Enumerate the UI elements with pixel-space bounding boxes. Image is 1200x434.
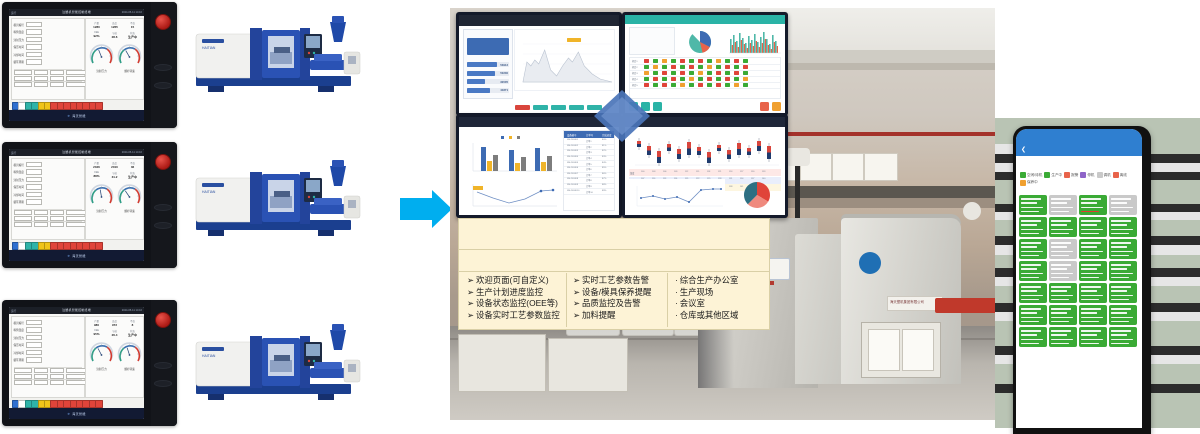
hmi-form-row[interactable]: 保压时间 <box>14 343 42 347</box>
list-marker: · <box>675 310 678 320</box>
hmi-stat-cell: OEE 92% <box>88 31 105 38</box>
hmi-title-left: 运行 <box>11 309 16 313</box>
device-card-21[interactable] <box>1019 305 1047 325</box>
hmi-panel-1[interactable]: 运行 注塑机智能控制终端 2024-05-11 14:16 模具编号 料筒温度 … <box>2 2 177 128</box>
hmi-title-bar: 运行 注塑机智能控制终端 2024-05-11 14:16 <box>9 9 144 16</box>
factory-machine-main: 海天塑机集团有限公司 <box>795 204 995 384</box>
monitor1-big-number-box <box>467 38 509 55</box>
hmi-stat-grid: 产量 980 良品 972 不良 8 OEE 95% 节拍 26.4 状态 生产… <box>86 317 143 339</box>
hmi-vent <box>154 204 172 211</box>
legend-item-1: 生产中 <box>1044 172 1062 178</box>
device-card-12[interactable] <box>1109 239 1137 259</box>
hmi-stat-cell: 节拍 26.4 <box>106 329 123 337</box>
injection-molding-machine-3: HAITIAN <box>188 316 363 406</box>
hmi-gauge-1: 注射压力 <box>89 43 114 68</box>
crate <box>458 334 546 392</box>
smartphone: ❮ 空闲/待机 生产中 报警 停机 调机 离线 保养中 <box>1013 126 1151 434</box>
hmi-vent <box>154 222 172 229</box>
hmi-form-row[interactable]: 注射压力 <box>14 336 42 340</box>
phone-screen: ❮ 空闲/待机 生产中 报警 停机 调机 离线 保养中 <box>1016 129 1142 428</box>
info-list-item: ·生产现场 <box>675 287 738 299</box>
monitor1-button-row[interactable] <box>515 105 602 111</box>
monitor4-pie-chart <box>735 178 779 210</box>
device-card-04[interactable] <box>1109 195 1137 215</box>
hmi-form-label: 冷却时间 <box>14 53 24 57</box>
hmi-vent <box>154 362 172 369</box>
device-card-19[interactable] <box>1079 283 1107 303</box>
hmi-stat-value: 36 <box>124 165 141 169</box>
hmi-title-bar: 运行 注塑机智能控制终端 2024-05-11 14:16 <box>9 149 144 156</box>
hmi-gauge-2: 螺杆转速 <box>117 183 142 208</box>
hmi-gauge-label: 注射压力 <box>89 367 114 371</box>
hmi-footer-brand: 海天智能 <box>72 254 86 258</box>
emergency-stop-button[interactable] <box>155 312 171 328</box>
hmi-table-row <box>14 223 88 227</box>
hmi-footer: ⚛ 海天智能 <box>9 250 144 261</box>
hmi-form-row[interactable]: 注射压力 <box>14 178 42 182</box>
device-card-14[interactable] <box>1049 261 1077 281</box>
hmi-stat-cell: 状态 生产中 <box>124 171 141 179</box>
hmi-led-13 <box>95 102 102 109</box>
monitor1-btn-1[interactable] <box>533 105 548 111</box>
hmi-stat-cell: 不良 8 <box>124 319 141 327</box>
hmi-form-row[interactable]: 料筒温度 <box>14 328 42 332</box>
hmi-form-value[interactable] <box>26 320 42 326</box>
emergency-stop-button[interactable] <box>155 14 171 30</box>
phone-region: ❮ 空闲/待机 生产中 报警 停机 调机 离线 保养中 <box>995 118 1200 428</box>
hmi-gauge-label: 螺杆转速 <box>117 367 142 371</box>
legend-label: 保养中 <box>1027 180 1038 185</box>
list-marker: ➢ <box>467 298 474 308</box>
hmi-table-row <box>14 83 88 87</box>
hmi-form-value[interactable] <box>26 357 42 363</box>
hmi-form-row[interactable]: 注射压力 <box>14 38 42 42</box>
emergency-stop-button[interactable] <box>155 154 171 170</box>
device-card-22[interactable] <box>1049 305 1077 325</box>
hmi-monitor-area: 产量 2046 良品 2010 不良 36 OEE 88% 节拍 31.2 状态… <box>85 158 144 240</box>
info-list-item: ➢设备状态监控(OEE等) <box>467 298 560 310</box>
hmi-led-13 <box>95 400 102 407</box>
phone-status-bar <box>1016 129 1142 142</box>
hmi-screen: 运行 注塑机智能控制终端 2024-05-11 14:16 模具编号 料筒温度 … <box>9 9 144 121</box>
list-marker: · <box>675 298 678 308</box>
monitor1-bar-row: 50230 <box>467 71 509 76</box>
svg-text:HAITIAN: HAITIAN <box>202 46 216 50</box>
hmi-stat-value: 生产中 <box>124 175 141 179</box>
device-card-24[interactable] <box>1109 305 1137 325</box>
device-card-16[interactable] <box>1109 261 1137 281</box>
hmi-form-row[interactable]: 模具编号 <box>14 23 42 27</box>
signal-lamp <box>961 202 983 228</box>
device-card-10[interactable] <box>1049 239 1077 259</box>
hmi-stat-cell: 良品 1265 <box>106 21 123 29</box>
hmi-stat-cell: 不良 36 <box>124 161 141 169</box>
hmi-stat-grid: 产量 1280 良品 1265 不良 15 OEE 92% 节拍 28.6 状态… <box>86 19 143 41</box>
monitor1-bar-value: 53912 <box>500 63 508 67</box>
hmi-stat-value: 生产中 <box>124 333 141 337</box>
monitor1-bar-row: 41871 <box>467 88 509 93</box>
hmi-gauge-label: 螺杆转速 <box>117 209 142 213</box>
hmi-footer-brand: 海天智能 <box>72 114 86 118</box>
hmi-form-label: 保压时间 <box>14 343 24 347</box>
info-list-item: ➢设备/模具保养提醒 <box>573 287 651 299</box>
device-card-06[interactable] <box>1049 217 1077 237</box>
hmi-form-label: 冷却时间 <box>14 351 24 355</box>
hmi-footer: ⚛ 海天智能 <box>9 408 144 419</box>
hmi-form-label: 注射压力 <box>14 38 24 42</box>
device-card-07[interactable] <box>1079 217 1107 237</box>
legend-color-chip <box>1064 172 1070 178</box>
monitor1-btn-0[interactable] <box>515 105 530 111</box>
list-marker: · <box>675 275 678 285</box>
info-locations: ·综合生产办公室·生产现场·会议室·仓库或其他区域 <box>675 275 738 321</box>
hmi-stat-value: 92% <box>88 34 105 38</box>
hmi-form-row[interactable]: 循环周期 <box>14 200 42 204</box>
monitor4-line-chart <box>629 179 725 211</box>
hmi-form-label: 料筒温度 <box>14 328 24 332</box>
legend-color-chip <box>1097 172 1103 178</box>
legend-item-2: 报警 <box>1064 172 1078 178</box>
hmi-form-label: 料筒温度 <box>14 170 24 174</box>
hmi-gauge-label: 螺杆转速 <box>117 69 142 73</box>
hmi-form-value[interactable] <box>26 169 42 175</box>
hmi-led-row <box>9 398 144 408</box>
hmi-form-row[interactable]: 冷却时间 <box>14 193 42 197</box>
hmi-stat-cell: 状态 生产中 <box>124 329 141 337</box>
hmi-form-label: 模具编号 <box>14 163 24 167</box>
hmi-vent <box>154 380 172 387</box>
cloud-diamond-icon <box>592 88 652 144</box>
hmi-title-bar: 运行 注塑机智能控制终端 2024-05-11 14:16 <box>9 307 144 314</box>
monitor1-bar-row: 53912 <box>467 62 509 67</box>
hmi-form-value[interactable] <box>26 199 42 205</box>
hmi-stat-value: 95% <box>88 332 105 336</box>
device-card-03[interactable] <box>1079 195 1107 215</box>
legend-item-5: 离线 <box>1113 172 1127 178</box>
hmi-form-label: 模具编号 <box>14 321 24 325</box>
monitor4-param-strip: 温度100103106109112115118121124127130133 <box>629 169 781 176</box>
hmi-monitor-area: 产量 1280 良品 1265 不良 15 OEE 92% 节拍 28.6 状态… <box>85 18 144 100</box>
hmi-form-value[interactable] <box>26 177 42 183</box>
hmi-form-value[interactable] <box>26 37 42 43</box>
legend-label: 离线 <box>1120 173 1127 178</box>
info-list-item: ·会议室 <box>675 298 738 310</box>
info-list-item: ➢加料提醒 <box>573 310 651 322</box>
monitor2-rbtn-1[interactable] <box>772 102 781 111</box>
hmi-form-area: 模具编号 料筒温度 注射压力 保压时间 冷却时间 循环周期 <box>11 316 85 398</box>
post-lamp <box>786 148 810 166</box>
hmi-form-label: 保压时间 <box>14 185 24 189</box>
hmi-form-area: 模具编号 料筒温度 注射压力 保压时间 冷却时间 循环周期 <box>11 158 85 240</box>
hmi-gauge-2: 螺杆转速 <box>117 341 142 366</box>
info-list-item: ➢实时工艺参数告警 <box>573 275 651 287</box>
hmi-form-label: 注射压力 <box>14 336 24 340</box>
hmi-panel-3[interactable]: 运行 注塑机智能控制终端 2024-05-11 14:16 模具编号 料筒温度 … <box>2 300 177 426</box>
monitor1-btn-3[interactable] <box>569 105 584 111</box>
hmi-stat-cell: 节拍 28.6 <box>106 31 123 39</box>
hmi-title: 注塑机智能控制终端 <box>62 10 91 14</box>
hmi-form-area: 模具编号 料筒温度 注射压力 保压时间 冷却时间 循环周期 <box>11 18 85 100</box>
monitor2-kpi-box <box>629 27 675 55</box>
hmi-form-label: 冷却时间 <box>14 193 24 197</box>
hmi-bezel-right <box>151 142 177 268</box>
info-list-item: ·综合生产办公室 <box>675 275 738 287</box>
hmi-stat-value: 31.2 <box>106 175 123 179</box>
legend-item-6: 保养中 <box>1020 180 1038 186</box>
monitor3-charts <box>463 130 559 211</box>
legend-item-3: 停机 <box>1080 172 1094 178</box>
legend-label: 报警 <box>1071 173 1078 178</box>
hmi-led-13 <box>95 242 102 249</box>
hmi-table-row <box>14 211 88 215</box>
info-panel: ➢欢迎页面(可自定义)➢生产计划进度监控➢设备状态监控(OEE等)➢设备实时工艺… <box>458 218 770 330</box>
hmi-table-row <box>14 71 88 75</box>
device-card-28[interactable] <box>1109 327 1137 347</box>
list-marker: ➢ <box>573 310 580 320</box>
legend-color-chip <box>1020 180 1026 186</box>
hmi-form-value[interactable] <box>26 162 42 168</box>
device-card-23[interactable] <box>1079 305 1107 325</box>
hmi-stat-cell: 良品 2010 <box>106 161 123 169</box>
monitor1-bar-row: 32005 <box>467 79 509 84</box>
hmi-footer-brand: 海天智能 <box>72 412 86 416</box>
hmi-logo-icon: ⚛ <box>67 412 70 416</box>
screenshot-root: 运行 注塑机智能控制终端 2024-05-11 14:16 模具编号 料筒温度 … <box>0 0 1200 428</box>
hmi-stat-value: 28.6 <box>106 35 123 39</box>
device-card-08[interactable] <box>1109 217 1137 237</box>
monitor2-fbtn-2[interactable] <box>653 102 662 111</box>
back-icon[interactable]: ❮ <box>1021 146 1026 153</box>
legend-color-chip <box>1044 172 1050 178</box>
hmi-vent <box>154 82 172 89</box>
hmi-form-value[interactable] <box>26 335 42 341</box>
hmi-stat-value: 972 <box>106 323 123 327</box>
hmi-form-label: 注射压力 <box>14 178 24 182</box>
hmi-stat-cell: OEE 95% <box>88 329 105 336</box>
info-list-item: ·仓库或其他区域 <box>675 310 738 322</box>
device-card-20[interactable] <box>1109 283 1137 303</box>
monitor3-legend <box>463 136 559 139</box>
list-marker: ➢ <box>573 287 580 297</box>
hmi-table-row <box>14 375 88 379</box>
device-card-17[interactable] <box>1019 283 1047 303</box>
list-marker: · <box>675 287 678 297</box>
injection-molding-machine-2: HAITIAN <box>188 152 363 242</box>
hmi-form-value[interactable] <box>26 22 42 28</box>
info-list-item: ➢品质监控及告警 <box>573 298 651 310</box>
hmi-form-row[interactable]: 料筒温度 <box>14 170 42 174</box>
hmi-form-row[interactable]: 料筒温度 <box>14 30 42 34</box>
hmi-form-value[interactable] <box>26 342 42 348</box>
red-tag <box>935 298 995 313</box>
hmi-title-left: 运行 <box>11 151 16 155</box>
hmi-led-row <box>9 100 144 110</box>
list-marker: ➢ <box>573 275 580 285</box>
hmi-title-right: 2024-05-11 14:16 <box>122 151 142 154</box>
factory-photo: 海天塑机集团有限公司 <box>450 8 995 420</box>
hmi-form-row[interactable]: 循环周期 <box>14 60 42 64</box>
hmi-form-value[interactable] <box>26 52 42 58</box>
hmi-vent <box>154 64 172 71</box>
hmi-form-value[interactable] <box>26 184 42 190</box>
hmi-body: 模具编号 料筒温度 注射压力 保压时间 冷却时间 循环周期 <box>9 156 144 240</box>
hmi-stat-value: 1280 <box>88 25 105 29</box>
hmi-logo-icon: ⚛ <box>67 114 70 118</box>
list-marker: ➢ <box>573 298 580 308</box>
hmi-form-value[interactable] <box>26 29 42 35</box>
hmi-form-value[interactable] <box>26 350 42 356</box>
hmi-stat-value: 26.4 <box>106 333 123 337</box>
hmi-stat-cell: 产量 2046 <box>88 161 105 169</box>
device-card-18[interactable] <box>1049 283 1077 303</box>
hmi-stat-value: 88% <box>88 174 105 178</box>
hmi-stat-value: 生产中 <box>124 35 141 39</box>
hmi-stat-cell: 产量 1280 <box>88 21 105 29</box>
monitor2-bar-chart <box>729 27 781 55</box>
hmi-title: 注塑机智能控制终端 <box>62 308 91 312</box>
hmi-title-left: 运行 <box>11 11 16 15</box>
hmi-stat-value: 8 <box>124 323 141 327</box>
hmi-form-label: 循环周期 <box>14 60 24 64</box>
monitor1-btn-2[interactable] <box>551 105 566 111</box>
hmi-form-value[interactable] <box>26 192 42 198</box>
hmi-gauge-1: 注射压力 <box>89 183 114 208</box>
hmi-gauge-label: 注射压力 <box>89 69 114 73</box>
monitor4-strip-label: 温度 <box>630 171 634 175</box>
hmi-gauge-2: 螺杆转速 <box>117 43 142 68</box>
hmi-stat-cell: 节拍 31.2 <box>106 171 123 179</box>
info-list-item: ➢设备实时工艺参数监控 <box>467 310 560 322</box>
hmi-logo-icon: ⚛ <box>67 254 70 258</box>
hmi-form-row[interactable]: 循环周期 <box>14 358 42 362</box>
hmi-footer: ⚛ 海天智能 <box>9 110 144 121</box>
svg-text:HAITIAN: HAITIAN <box>202 190 216 194</box>
monitor1-bar-value: 32005 <box>500 80 508 84</box>
info-list-item: ➢生产计划进度监控 <box>467 287 560 299</box>
monitor2-pie-chart <box>677 27 723 55</box>
legend-item-0: 空闲/待机 <box>1020 172 1042 178</box>
device-card-25[interactable] <box>1019 327 1047 347</box>
info-list-item: ➢欢迎页面(可自定义) <box>467 275 560 287</box>
monitor2-table-row: 机台5 <box>630 82 780 89</box>
legend-color-chip <box>1080 172 1086 178</box>
hmi-form-value[interactable] <box>26 327 42 333</box>
hmi-stat-value: 15 <box>124 25 141 29</box>
hmi-form-row[interactable]: 模具编号 <box>14 163 42 167</box>
injection-molding-machine-1: HAITIAN <box>188 8 363 98</box>
list-marker: ➢ <box>467 310 474 320</box>
hmi-form-row[interactable]: 冷却时间 <box>14 53 42 57</box>
hmi-stat-cell: OEE 88% <box>88 171 105 178</box>
svg-text:HAITIAN: HAITIAN <box>202 354 216 358</box>
monitor2-rbtn-0[interactable] <box>760 102 769 111</box>
monitor3-table-row: SN-2024010 订单10 89% <box>564 188 614 195</box>
hmi-bezel-right <box>151 2 177 128</box>
monitor1-kpi-card: 53912 50230 32005 41871 <box>463 29 513 99</box>
crate <box>548 338 628 392</box>
hmi-bezel-right <box>151 300 177 426</box>
hmi-form-label: 循环周期 <box>14 358 24 362</box>
hmi-title: 注塑机智能控制终端 <box>62 150 91 154</box>
legend-color-chip <box>1020 172 1026 178</box>
monitor2-header <box>625 15 785 24</box>
legend-item-4: 调机 <box>1097 172 1111 178</box>
device-card-01[interactable] <box>1019 195 1047 215</box>
hmi-body: 模具编号 料筒温度 注射压力 保压时间 冷却时间 循环周期 <box>9 16 144 100</box>
hmi-form-value[interactable] <box>26 44 42 50</box>
info-content-mid: ➢实时工艺参数告警➢设备/模具保养提醒➢品质监控及告警➢加料提醒 <box>573 275 651 321</box>
hmi-form-row[interactable]: 冷却时间 <box>14 351 42 355</box>
hmi-stat-cell: 状态 生产中 <box>124 31 141 39</box>
hmi-stat-value: 2046 <box>88 165 105 169</box>
phone-device-grid[interactable] <box>1019 195 1139 347</box>
hmi-gauge-1: 注射压力 <box>89 341 114 366</box>
hmi-led-row <box>9 240 144 250</box>
hmi-title-right: 2024-05-11 14:16 <box>122 309 142 312</box>
device-card-13[interactable] <box>1019 261 1047 281</box>
hmi-gauge-label: 注射压力 <box>89 209 114 213</box>
hmi-stat-value: 980 <box>88 323 105 327</box>
hmi-body: 模具编号 料筒温度 注射压力 保压时间 冷却时间 循环周期 <box>9 314 144 398</box>
hmi-panel-2[interactable]: 运行 注塑机智能控制终端 2024-05-11 14:16 模具编号 料筒温度 … <box>2 142 177 268</box>
info-content-left: ➢欢迎页面(可自定义)➢生产计划进度监控➢设备状态监控(OEE等)➢设备实时工艺… <box>467 275 560 321</box>
flow-arrow <box>398 188 454 235</box>
device-card-15[interactable] <box>1079 261 1107 281</box>
hmi-screen: 运行 注塑机智能控制终端 2024-05-11 14:16 模具编号 料筒温度 … <box>9 307 144 419</box>
device-card-02[interactable] <box>1049 195 1077 215</box>
legend-label: 空闲/待机 <box>1027 173 1042 178</box>
energy-badge <box>859 252 881 274</box>
hmi-form-row[interactable]: 保压时间 <box>14 45 42 49</box>
hmi-form-value[interactable] <box>26 59 42 65</box>
document-holder <box>861 322 941 378</box>
hmi-table-row <box>14 381 88 385</box>
hmi-stat-value: 1265 <box>106 25 123 29</box>
device-card-27[interactable] <box>1079 327 1107 347</box>
legend-color-chip <box>1113 172 1119 178</box>
device-card-11[interactable] <box>1079 239 1107 259</box>
hmi-stat-grid: 产量 2046 良品 2010 不良 36 OEE 88% 节拍 31.2 状态… <box>86 159 143 181</box>
list-marker: ➢ <box>467 275 474 285</box>
hmi-stat-cell: 不良 15 <box>124 21 141 29</box>
monitor1-bar-value: 50230 <box>500 71 508 75</box>
hmi-form-label: 料筒温度 <box>14 30 24 34</box>
monitor1-line-chart <box>514 29 615 91</box>
list-marker: ➢ <box>467 287 474 297</box>
hmi-monitor-area: 产量 980 良品 972 不良 8 OEE 95% 节拍 26.4 状态 生产… <box>85 316 144 398</box>
phone-status-legend: 空闲/待机 生产中 报警 停机 调机 离线 保养中 <box>1020 172 1140 186</box>
device-card-09[interactable] <box>1019 239 1047 259</box>
hmi-table-row <box>14 77 88 81</box>
hmi-form-row[interactable]: 模具编号 <box>14 321 42 325</box>
hmi-title-right: 2024-05-11 14:16 <box>122 11 142 14</box>
monitor1-bar-value: 41871 <box>500 88 508 92</box>
hmi-stat-cell: 良品 972 <box>106 319 123 327</box>
hmi-screen: 运行 注塑机智能控制终端 2024-05-11 14:16 模具编号 料筒温度 … <box>9 149 144 261</box>
hmi-stat-value: 2010 <box>106 165 123 169</box>
hmi-form-label: 保压时间 <box>14 45 24 49</box>
monitor2-footer-buttons-right[interactable] <box>760 102 781 111</box>
monitor1-header <box>459 15 619 26</box>
device-card-05[interactable] <box>1019 217 1047 237</box>
legend-label: 调机 <box>1104 173 1111 178</box>
hmi-table-row <box>14 217 88 221</box>
device-card-26[interactable] <box>1049 327 1077 347</box>
hmi-table-row <box>14 369 88 373</box>
legend-label: 停机 <box>1087 173 1094 178</box>
hmi-form-row[interactable]: 保压时间 <box>14 185 42 189</box>
legend-label: 生产中 <box>1051 173 1062 178</box>
